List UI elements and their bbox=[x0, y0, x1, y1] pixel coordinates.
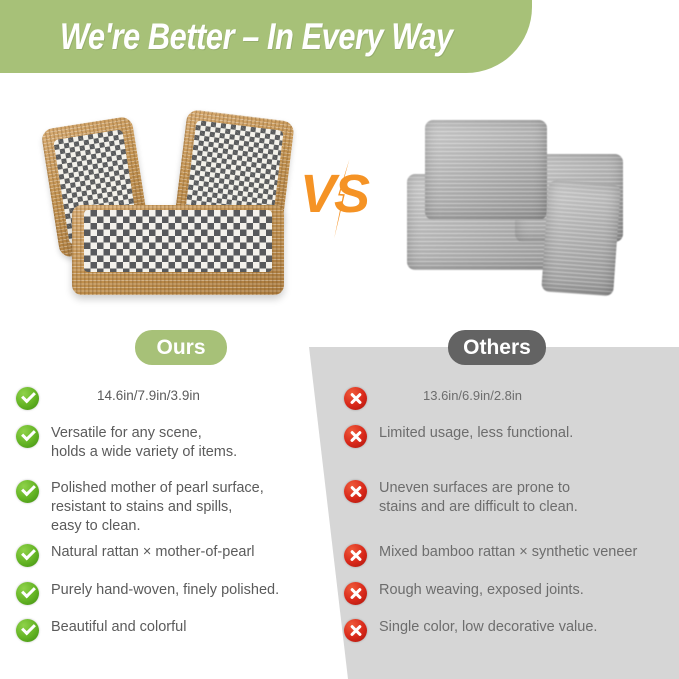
list-item: Mixed bamboo rattan × synthetic veneer bbox=[344, 543, 637, 567]
list-item-label: 13.6in/6.9in/2.8in bbox=[423, 386, 522, 405]
list-item: Uneven surfaces are prone to stains and … bbox=[344, 479, 578, 517]
list-item-label: Natural rattan × mother-of-pearl bbox=[51, 543, 255, 562]
list-item: Natural rattan × mother-of-pearl bbox=[16, 543, 255, 567]
vs-badge: VS bbox=[300, 163, 380, 235]
green-check-icon bbox=[16, 582, 39, 605]
red-x-icon bbox=[344, 619, 367, 642]
list-item-label: 14.6in/7.9in/3.9in bbox=[97, 386, 200, 405]
list-item: 13.6in/6.9in/2.8in bbox=[344, 386, 522, 410]
list-item-label: Mixed bamboo rattan × synthetic veneer bbox=[379, 543, 637, 562]
green-check-icon bbox=[16, 619, 39, 642]
list-item-label: Single color, low decorative value. bbox=[379, 618, 597, 637]
red-x-icon bbox=[344, 480, 367, 503]
red-x-icon bbox=[344, 544, 367, 567]
vs-label: VS bbox=[300, 163, 368, 225]
list-item-label: Purely hand-woven, finely polished. bbox=[51, 581, 279, 600]
red-x-icon bbox=[344, 425, 367, 448]
green-check-icon bbox=[16, 480, 39, 503]
red-x-icon bbox=[344, 387, 367, 410]
others-label-pill: Others bbox=[448, 330, 546, 365]
ours-label-pill: Ours bbox=[135, 330, 227, 365]
green-check-icon bbox=[16, 425, 39, 448]
page-title: We're Better – In Every Way bbox=[60, 8, 450, 66]
list-item-label: Polished mother of pearl surface, resist… bbox=[51, 479, 264, 536]
list-item-label: Beautiful and colorful bbox=[51, 618, 186, 637]
list-item: Limited usage, less functional. bbox=[344, 424, 573, 448]
list-item: Rough weaving, exposed joints. bbox=[344, 581, 584, 605]
basket-front-rectangle bbox=[541, 180, 621, 297]
list-item: 14.6in/7.9in/3.9in bbox=[16, 386, 200, 410]
basket-top-square bbox=[425, 120, 547, 220]
green-check-icon bbox=[16, 544, 39, 567]
list-item: Polished mother of pearl surface, resist… bbox=[16, 479, 264, 536]
others-product-image bbox=[395, 112, 645, 307]
list-item: Beautiful and colorful bbox=[16, 618, 186, 642]
list-item: Single color, low decorative value. bbox=[344, 618, 597, 642]
list-item-label: Uneven surfaces are prone to stains and … bbox=[379, 479, 578, 517]
list-item-label: Rough weaving, exposed joints. bbox=[379, 581, 584, 600]
list-item: Versatile for any scene, holds a wide va… bbox=[16, 424, 237, 462]
green-check-icon bbox=[16, 387, 39, 410]
list-item-label: Versatile for any scene, holds a wide va… bbox=[51, 424, 237, 462]
list-item: Purely hand-woven, finely polished. bbox=[16, 581, 279, 605]
ours-product-image bbox=[40, 110, 305, 310]
tray-large-flat-inlay bbox=[84, 210, 272, 272]
red-x-icon bbox=[344, 582, 367, 605]
list-item-label: Limited usage, less functional. bbox=[379, 424, 573, 443]
comparison-infographic: We're Better – In Every Way VS Ours Othe… bbox=[0, 0, 679, 679]
